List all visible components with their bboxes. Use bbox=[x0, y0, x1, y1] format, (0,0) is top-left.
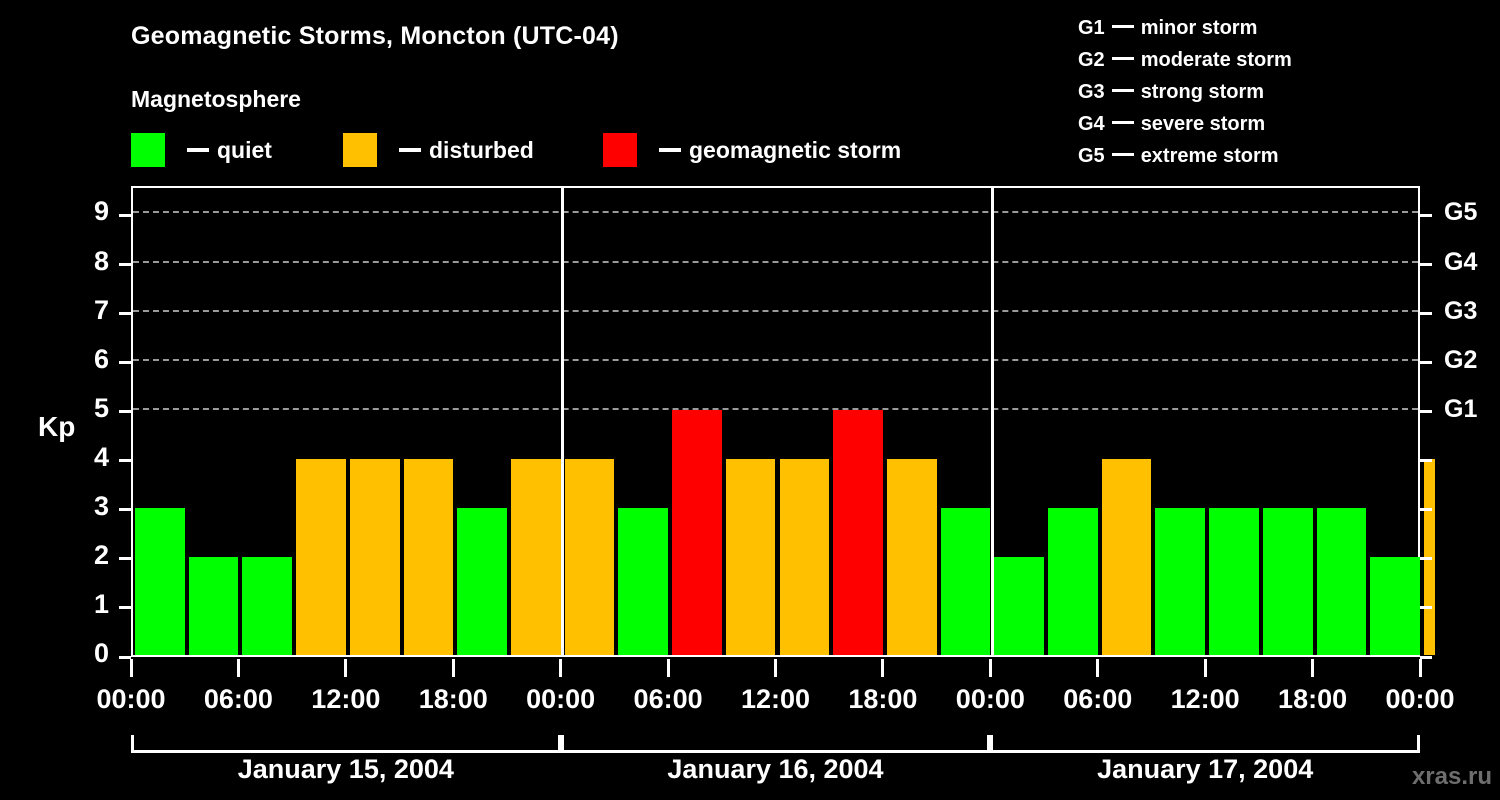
g-scale-row: G4severe storm bbox=[1078, 108, 1292, 140]
g-scale-description: moderate storm bbox=[1141, 49, 1292, 71]
y-axis-tick-label: 0 bbox=[49, 638, 109, 669]
x-axis-tick bbox=[130, 659, 133, 677]
kp-bar bbox=[887, 459, 937, 655]
g-axis-tick bbox=[1420, 263, 1432, 266]
y-axis-tick bbox=[119, 459, 131, 462]
g-scale-row: G2moderate storm bbox=[1078, 44, 1292, 76]
g-scale-description: extreme storm bbox=[1141, 145, 1279, 167]
legend-dash-icon bbox=[187, 148, 209, 152]
kp-bar bbox=[1317, 508, 1367, 655]
date-label: January 17, 2004 bbox=[1097, 754, 1313, 785]
legend-label: geomagnetic storm bbox=[689, 139, 901, 162]
g-axis-tick-label: G1 bbox=[1444, 395, 1500, 424]
x-axis-tick bbox=[1096, 659, 1099, 677]
x-axis-tick bbox=[559, 659, 562, 677]
day-separator bbox=[561, 188, 564, 655]
kp-bar bbox=[1048, 508, 1098, 655]
chart-title: Geomagnetic Storms, Moncton (UTC-04) bbox=[131, 22, 619, 51]
x-axis-tick-label: 06:00 bbox=[1063, 684, 1132, 715]
kp-bar bbox=[350, 459, 400, 655]
kp-bar bbox=[1370, 557, 1420, 655]
legend-dash-icon bbox=[399, 148, 421, 152]
kp-bar bbox=[941, 508, 991, 655]
g-scale-row: G3strong storm bbox=[1078, 76, 1292, 108]
y-axis-tick-label: 6 bbox=[49, 344, 109, 375]
date-label: January 15, 2004 bbox=[238, 754, 454, 785]
y-axis-tick bbox=[119, 410, 131, 413]
y-axis-tick-label: 5 bbox=[49, 393, 109, 424]
y-axis-tick-label: 4 bbox=[49, 442, 109, 473]
x-axis-tick-label: 00:00 bbox=[96, 684, 165, 715]
kp-bar bbox=[726, 459, 776, 655]
g-axis-tick-label: G4 bbox=[1444, 248, 1500, 277]
kp-bar bbox=[994, 557, 1044, 655]
bar-container bbox=[133, 188, 1418, 655]
g-scale-legend: G1minor stormG2moderate stormG3strong st… bbox=[1078, 12, 1292, 172]
x-axis-tick bbox=[989, 659, 992, 677]
kp-bar bbox=[618, 508, 668, 655]
kp-bar bbox=[780, 459, 830, 655]
g-scale-dash-icon bbox=[1112, 25, 1134, 28]
g-scale-description: strong storm bbox=[1141, 81, 1264, 103]
y-axis-tick-label: 9 bbox=[49, 196, 109, 227]
x-axis-tick-label: 18:00 bbox=[848, 684, 917, 715]
legend-item: quiet bbox=[131, 133, 272, 167]
g-scale-dash-icon bbox=[1112, 121, 1134, 124]
g-scale-row: G5extreme storm bbox=[1078, 140, 1292, 172]
x-axis-tick-label: 18:00 bbox=[419, 684, 488, 715]
x-axis-tick-label: 12:00 bbox=[1171, 684, 1240, 715]
kp-bar bbox=[296, 459, 346, 655]
g-scale-code: G2 bbox=[1078, 49, 1105, 71]
g-axis-tick-label: G3 bbox=[1444, 297, 1500, 326]
g-axis-minor-tick bbox=[1420, 656, 1432, 659]
kp-bar bbox=[242, 557, 292, 655]
x-axis-tick bbox=[344, 659, 347, 677]
legend-swatch-disturbed bbox=[343, 133, 377, 167]
date-label: January 16, 2004 bbox=[667, 754, 883, 785]
kp-bar bbox=[189, 557, 239, 655]
y-axis-tick bbox=[119, 508, 131, 511]
g-scale-code: G1 bbox=[1078, 17, 1105, 39]
legend-swatch-quiet bbox=[131, 133, 165, 167]
y-axis-tick-label: 8 bbox=[49, 246, 109, 277]
g-scale-dash-icon bbox=[1112, 89, 1134, 92]
g-scale-dash-icon bbox=[1112, 153, 1134, 156]
x-axis-tick bbox=[774, 659, 777, 677]
x-axis-tick bbox=[1419, 659, 1422, 677]
x-axis-tick bbox=[1311, 659, 1314, 677]
watermark: xras.ru bbox=[1412, 763, 1492, 791]
kp-bar bbox=[833, 410, 883, 655]
g-scale-dash-icon bbox=[1112, 57, 1134, 60]
g-axis-tick-label: G2 bbox=[1444, 346, 1500, 375]
y-axis-tick-label: 2 bbox=[49, 540, 109, 571]
date-bracket bbox=[990, 735, 1420, 753]
gridline bbox=[133, 408, 1418, 410]
g-axis-minor-tick bbox=[1420, 606, 1432, 609]
g-axis-tick bbox=[1420, 214, 1432, 217]
g-scale-description: minor storm bbox=[1141, 17, 1258, 39]
kp-bar bbox=[135, 508, 185, 655]
x-axis-tick-label: 18:00 bbox=[1278, 684, 1347, 715]
g-scale-code: G4 bbox=[1078, 113, 1105, 135]
x-axis-tick bbox=[881, 659, 884, 677]
g-scale-code: G5 bbox=[1078, 145, 1105, 167]
chart-root: Geomagnetic Storms, Moncton (UTC-04) Mag… bbox=[0, 0, 1500, 800]
legend-swatch-storm bbox=[603, 133, 637, 167]
g-axis-tick bbox=[1420, 410, 1432, 413]
date-bracket bbox=[131, 735, 561, 753]
y-axis-tick bbox=[119, 606, 131, 609]
gridline bbox=[133, 261, 1418, 263]
y-axis-tick-label: 3 bbox=[49, 491, 109, 522]
kp-bar bbox=[1209, 508, 1259, 655]
kp-bar bbox=[672, 410, 722, 655]
chart-subtitle: Magnetosphere bbox=[131, 86, 301, 113]
legend-label: disturbed bbox=[429, 139, 534, 162]
y-axis-tick bbox=[119, 361, 131, 364]
g-axis-tick bbox=[1420, 361, 1432, 364]
day-separator bbox=[991, 188, 994, 655]
y-axis-tick bbox=[119, 557, 131, 560]
y-axis-tick bbox=[119, 263, 131, 266]
kp-bar bbox=[404, 459, 454, 655]
g-axis-tick bbox=[1420, 312, 1432, 315]
x-axis-tick-label: 06:00 bbox=[634, 684, 703, 715]
g-scale-row: G1minor storm bbox=[1078, 12, 1292, 44]
g-axis-minor-tick bbox=[1420, 508, 1432, 511]
g-scale-code: G3 bbox=[1078, 81, 1105, 103]
kp-bar bbox=[511, 459, 561, 655]
x-axis-tick-label: 12:00 bbox=[741, 684, 810, 715]
gridline bbox=[133, 359, 1418, 361]
legend-item: disturbed bbox=[343, 133, 534, 167]
x-axis-tick bbox=[452, 659, 455, 677]
kp-bar bbox=[1263, 508, 1313, 655]
legend-label: quiet bbox=[217, 139, 272, 162]
g-scale-description: severe storm bbox=[1141, 113, 1266, 135]
x-axis-tick bbox=[237, 659, 240, 677]
y-axis-tick-label: 7 bbox=[49, 295, 109, 326]
date-bracket bbox=[561, 735, 991, 753]
g-axis-minor-tick bbox=[1420, 459, 1432, 462]
legend-dash-icon bbox=[659, 148, 681, 152]
x-axis-tick-label: 00:00 bbox=[956, 684, 1025, 715]
kp-bar bbox=[565, 459, 615, 655]
kp-bar bbox=[1155, 508, 1205, 655]
gridline bbox=[133, 211, 1418, 213]
y-axis-tick bbox=[119, 214, 131, 217]
kp-bar bbox=[1102, 459, 1152, 655]
kp-bar bbox=[457, 508, 507, 655]
plot-area bbox=[131, 186, 1420, 657]
x-axis-tick-label: 12:00 bbox=[311, 684, 380, 715]
g-axis-tick-label: G5 bbox=[1444, 198, 1500, 227]
legend-item: geomagnetic storm bbox=[603, 133, 901, 167]
x-axis-tick-label: 00:00 bbox=[526, 684, 595, 715]
gridline bbox=[133, 310, 1418, 312]
y-axis-tick-label: 1 bbox=[49, 589, 109, 620]
g-axis-minor-tick bbox=[1420, 557, 1432, 560]
x-axis-tick-label: 06:00 bbox=[204, 684, 273, 715]
x-axis-tick bbox=[667, 659, 670, 677]
x-axis-tick-label: 00:00 bbox=[1385, 684, 1454, 715]
x-axis-tick bbox=[1204, 659, 1207, 677]
y-axis-tick bbox=[119, 312, 131, 315]
